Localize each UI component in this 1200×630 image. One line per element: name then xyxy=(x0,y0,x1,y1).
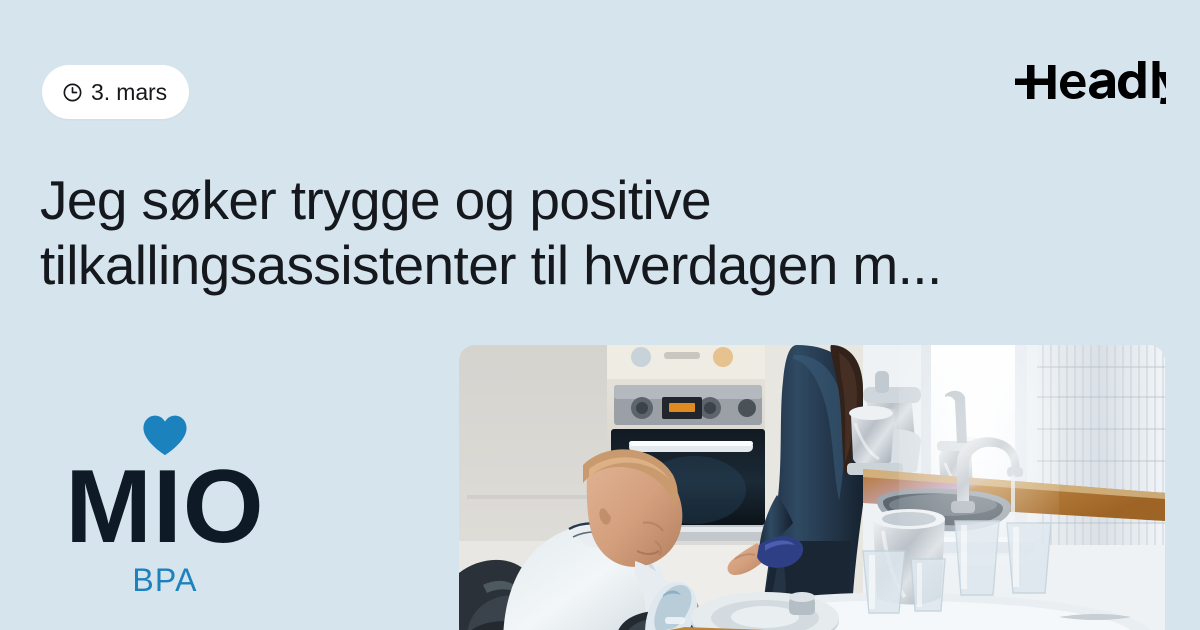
social-share-card: 3. mars J xyxy=(0,0,1200,630)
date-label: 3. mars xyxy=(91,81,167,104)
clock-icon xyxy=(62,82,83,103)
advertiser-subtitle: BPA xyxy=(50,562,280,599)
headly-logo[interactable] xyxy=(1014,60,1166,104)
article-photo xyxy=(459,345,1165,630)
date-badge: 3. mars xyxy=(42,65,189,119)
advertiser-logo: MIO BPA xyxy=(50,414,280,599)
advertiser-wordmark: MIO xyxy=(50,460,280,556)
page-title: Jeg søker trygge og positive tilkallings… xyxy=(40,168,1125,298)
